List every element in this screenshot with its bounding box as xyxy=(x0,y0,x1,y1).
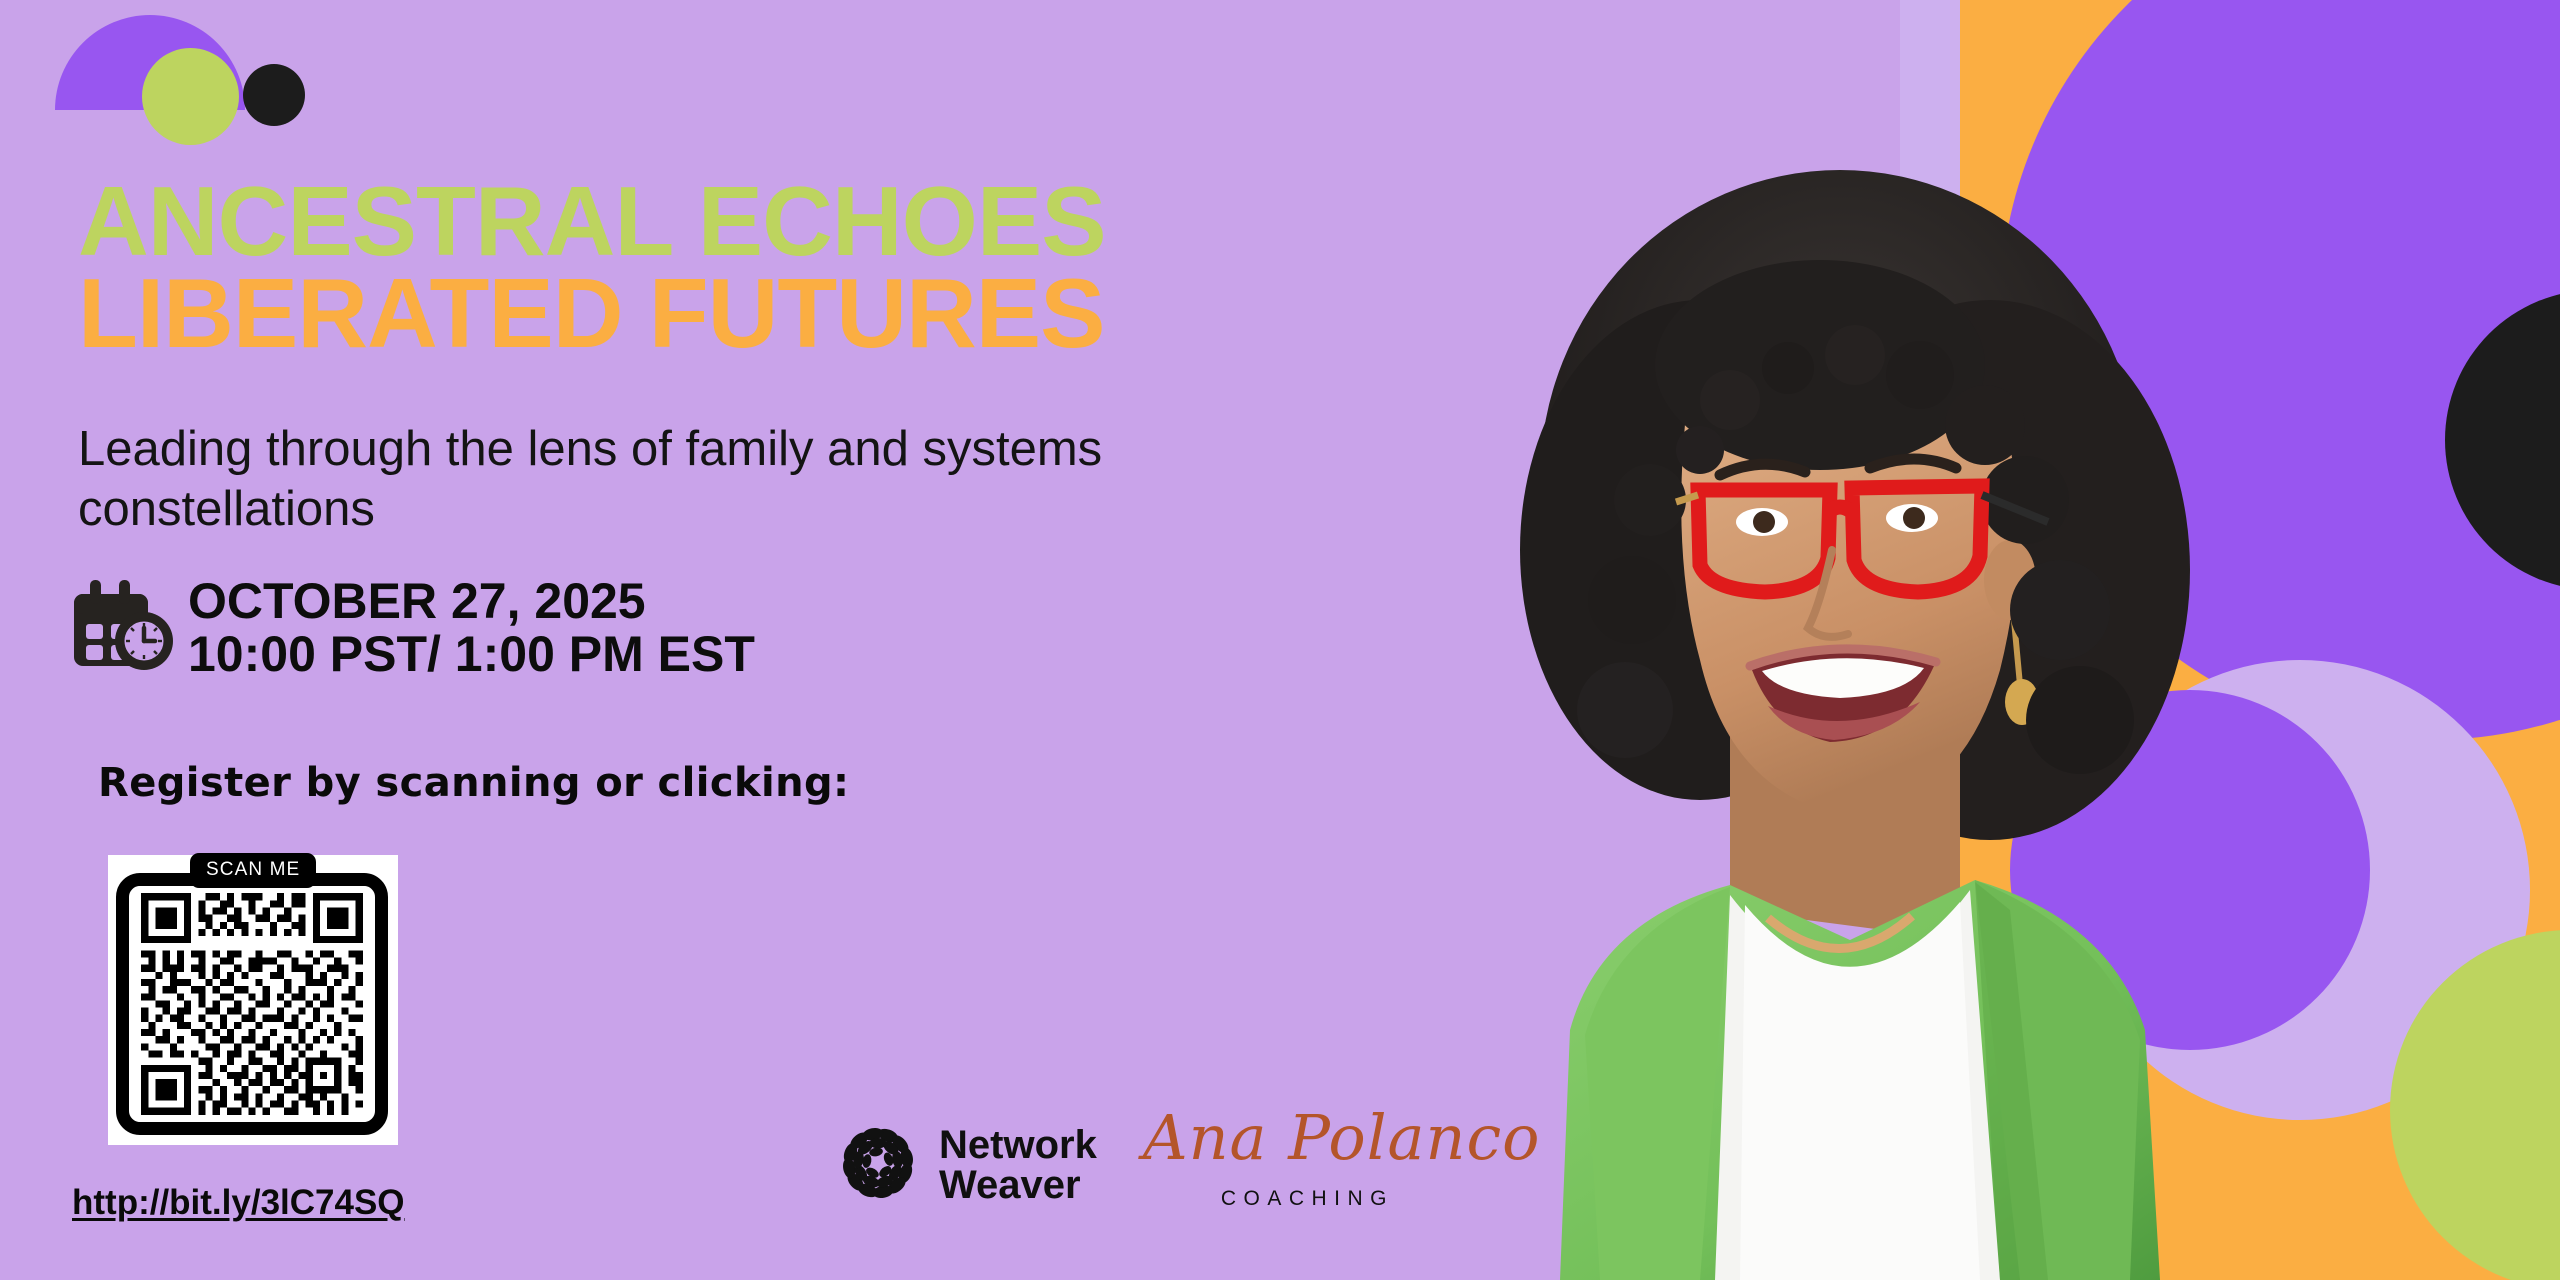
network-weaver-logo: Network Weaver xyxy=(835,1120,1097,1211)
ana-polanco-coaching-label: COACHING xyxy=(1221,1187,1394,1211)
calendar-clock-icon xyxy=(70,578,178,679)
registration-link[interactable]: http://bit.ly/3lC74SQ xyxy=(72,1183,405,1223)
qr-code-card[interactable]: SCAN ME xyxy=(108,855,398,1145)
event-date-time-text: OCTOBER 27, 2025 10:00 PST/ 1:00 PM EST xyxy=(188,575,755,681)
scan-me-badge: SCAN ME xyxy=(190,853,316,888)
headline-line-2: LIBERATED FUTURES xyxy=(78,267,1106,359)
network-weaver-line-2: Weaver xyxy=(939,1165,1097,1205)
qr-code-zone[interactable]: SCAN ME xyxy=(108,855,408,1145)
content-column: ANCESTRAL ECHOES LIBERATED FUTURES Leadi… xyxy=(0,0,1400,1280)
subtitle-text: Leading through the lens of family and s… xyxy=(78,420,1358,540)
event-date: OCTOBER 27, 2025 xyxy=(188,575,755,628)
headline-line-1: ANCESTRAL ECHOES xyxy=(78,175,1106,267)
poster-root: ANCESTRAL ECHOES LIBERATED FUTURES Leadi… xyxy=(0,0,2560,1280)
event-time: 10:00 PST/ 1:00 PM EST xyxy=(188,628,755,681)
event-datetime-block: OCTOBER 27, 2025 10:00 PST/ 1:00 PM EST xyxy=(70,575,755,681)
network-weaver-mark xyxy=(835,1120,921,1206)
headline-block: ANCESTRAL ECHOES LIBERATED FUTURES xyxy=(78,175,1106,359)
ana-polanco-script: Ana Polanco xyxy=(1143,1101,1541,1174)
qr-code-matrix[interactable] xyxy=(129,886,375,1122)
network-weaver-wordmark: Network Weaver xyxy=(939,1125,1097,1205)
woven-spiral-mark-icon xyxy=(835,1120,921,1211)
register-prompt: Register by scanning or clicking: xyxy=(98,760,849,806)
network-weaver-line-1: Network xyxy=(939,1125,1097,1165)
ana-polanco-logo: Ana Polanco COACHING xyxy=(1143,1105,1453,1225)
logo-row: Network Weaver Ana Polanco COACHING xyxy=(835,1105,1453,1225)
qr-code-frame[interactable] xyxy=(116,873,388,1135)
